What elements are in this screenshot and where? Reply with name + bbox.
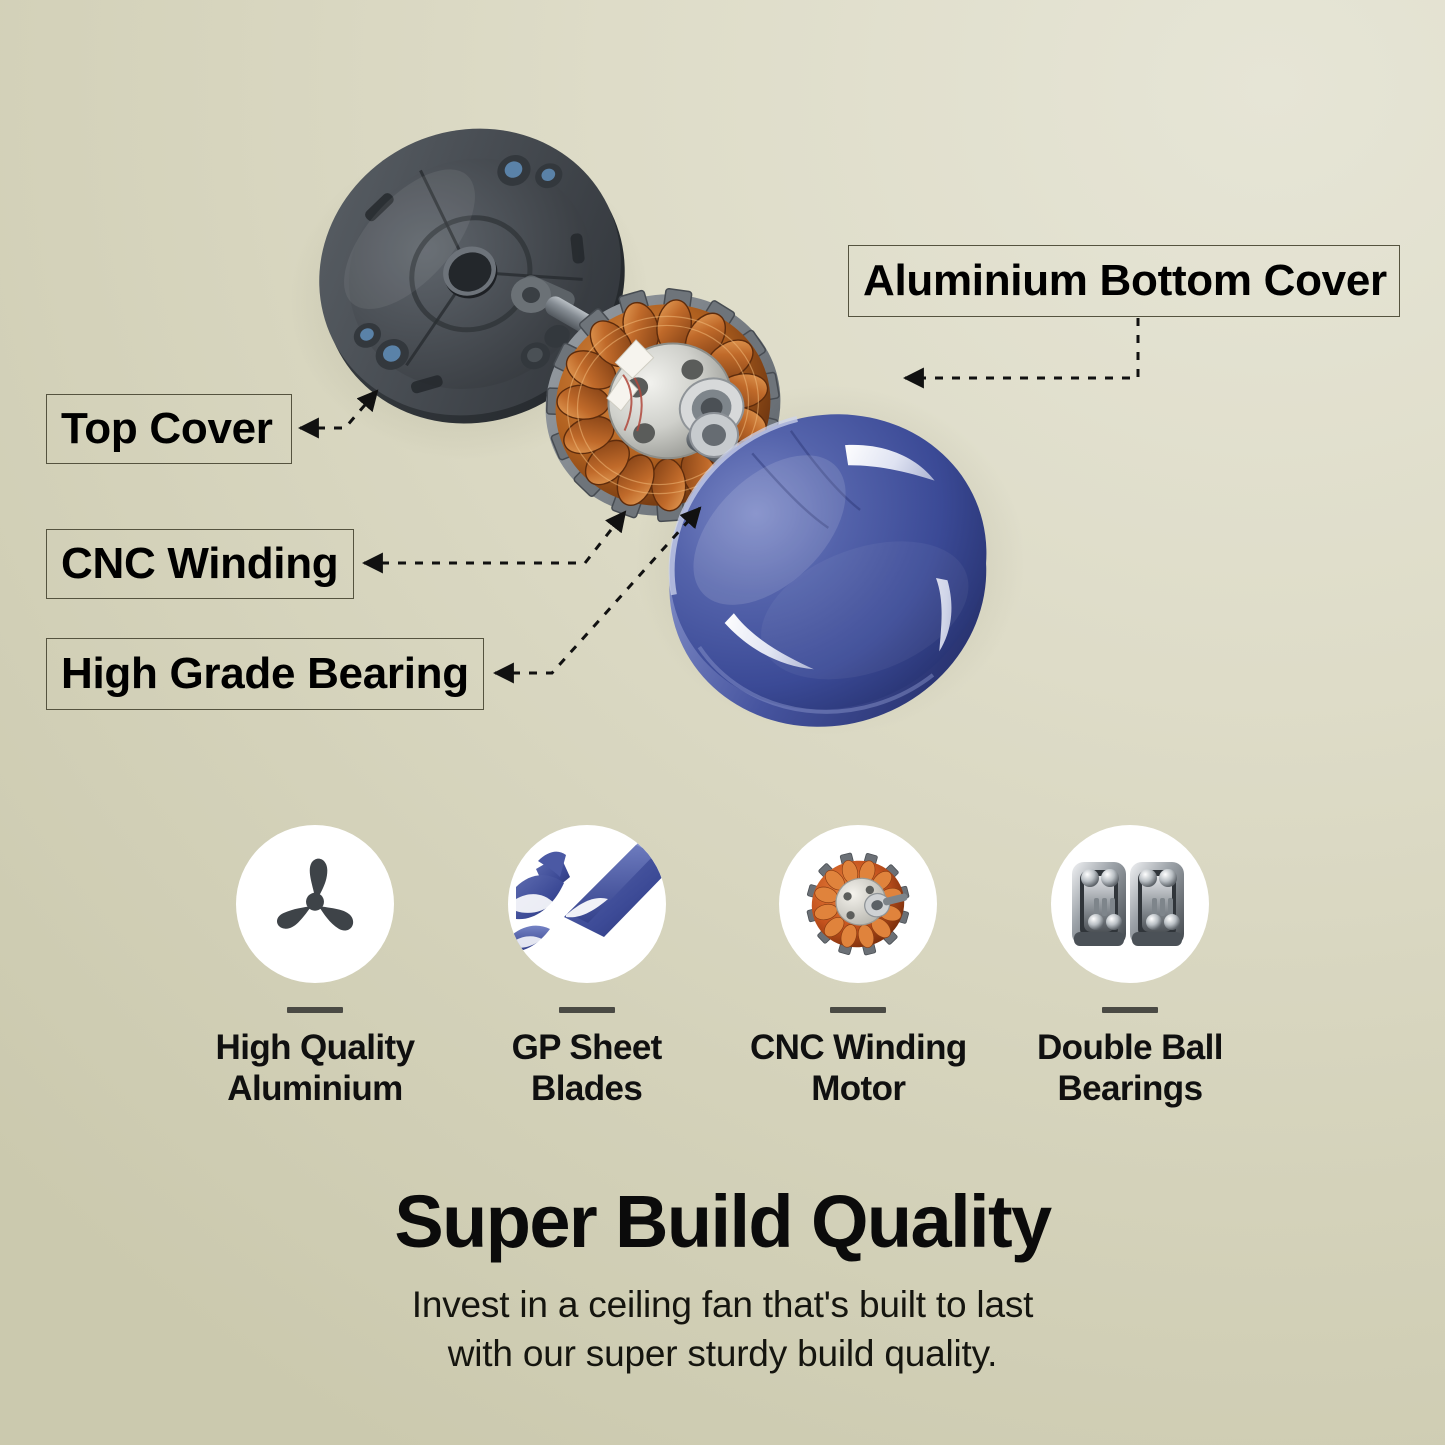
- feature-icon-circle: [779, 825, 937, 983]
- feature-divider: [559, 1007, 615, 1013]
- bearing-ring-2: [1130, 862, 1184, 946]
- bearing-ring-1: [1072, 862, 1126, 946]
- callout-label: High Grade Bearing: [61, 649, 469, 699]
- feature-high-quality-aluminium: High QualityAluminium: [200, 825, 430, 1110]
- top-cover-hub-arm: [511, 272, 578, 313]
- feature-label: Double BallBearings: [1037, 1027, 1223, 1110]
- feature-label: GP SheetBlades: [512, 1027, 662, 1110]
- callout-high-grade-bearing: High Grade Bearing: [46, 638, 484, 710]
- feature-icon-circle: [1051, 825, 1209, 983]
- top-cover-part: [271, 78, 674, 474]
- ball-bearing-icon: [1068, 852, 1192, 956]
- feature-icon-circle: [508, 825, 666, 983]
- feature-label: CNC WindingMotor: [750, 1027, 967, 1110]
- fan-blade-closeup-icon: [508, 825, 666, 983]
- callout-top-cover: Top Cover: [46, 394, 292, 464]
- headline: Super Build Quality: [0, 1185, 1445, 1259]
- cnc-winding-stator: [518, 261, 809, 549]
- connector-top-cover: [300, 391, 377, 428]
- callout-label: Aluminium Bottom Cover: [863, 256, 1387, 306]
- feature-divider: [830, 1007, 886, 1013]
- product-infographic: Aluminium Bottom Cover Top Cover CNC Win…: [0, 0, 1445, 1445]
- feature-cnc-winding-motor: CNC WindingMotor: [743, 825, 973, 1110]
- callout-cnc-winding: CNC Winding: [46, 529, 354, 599]
- feature-icon-circle: [236, 825, 394, 983]
- feature-divider: [287, 1007, 343, 1013]
- footer-block: Super Build Quality Invest in a ceiling …: [0, 1185, 1445, 1379]
- subtext: Invest in a ceiling fan that's built to …: [0, 1281, 1445, 1379]
- fan-blade-icon: [259, 848, 371, 960]
- motor-shaft: [542, 293, 751, 425]
- stator-motor-icon: [800, 846, 916, 962]
- feature-highlights-row: High QualityAluminium: [200, 825, 1245, 1110]
- callout-aluminium-bottom-cover: Aluminium Bottom Cover: [848, 245, 1400, 317]
- feature-double-ball-bearings: Double BallBearings: [1015, 825, 1245, 1110]
- feature-gp-sheet-blades: GP SheetBlades: [472, 825, 702, 1110]
- bearing-shaft-lower: [682, 413, 825, 519]
- connector-aluminium-bottom-cover: [905, 318, 1138, 378]
- connector-cnc-winding: [364, 512, 625, 563]
- callout-label: Top Cover: [61, 404, 273, 454]
- subtext-line-2: with our super sturdy build quality.: [0, 1330, 1445, 1379]
- aluminium-bottom-cover-part: [622, 370, 1034, 771]
- connector-high-grade-bearing: [495, 508, 700, 673]
- feature-label: High QualityAluminium: [216, 1027, 415, 1110]
- feature-divider: [1102, 1007, 1158, 1013]
- callout-label: CNC Winding: [61, 539, 338, 589]
- subtext-line-1: Invest in a ceiling fan that's built to …: [0, 1281, 1445, 1330]
